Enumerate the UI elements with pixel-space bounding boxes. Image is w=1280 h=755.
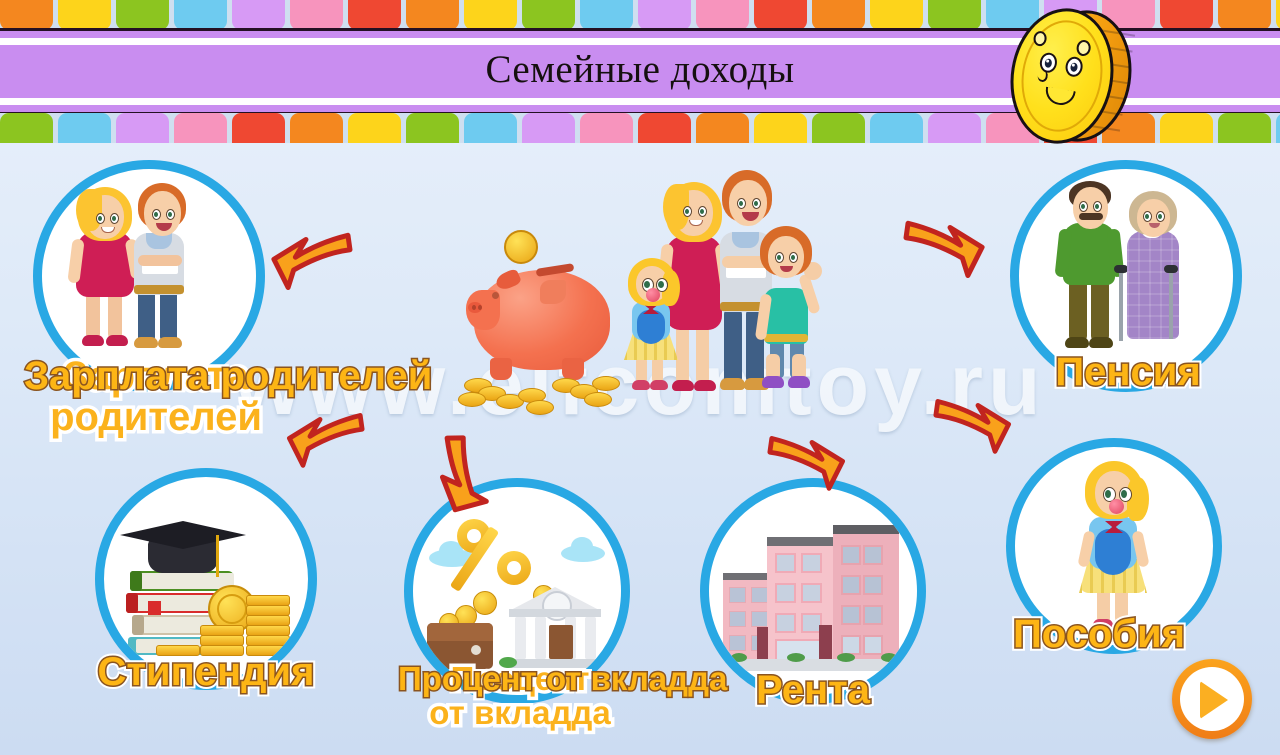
decorative-tab bbox=[0, 113, 53, 143]
smiling-coin-icon bbox=[1005, 4, 1130, 140]
decorative-tab bbox=[464, 113, 517, 143]
decorative-tab bbox=[290, 113, 343, 143]
decorative-tab bbox=[464, 0, 517, 30]
decorative-tab bbox=[870, 0, 923, 30]
decorative-tab bbox=[522, 113, 575, 143]
family-of-four-icon bbox=[614, 162, 824, 424]
decorative-tab bbox=[638, 113, 691, 143]
decorative-tab bbox=[406, 0, 459, 30]
arrow-salary-to-scholarship bbox=[278, 398, 366, 482]
decorative-tab bbox=[812, 0, 865, 30]
decorative-tab bbox=[696, 113, 749, 143]
decorative-tab bbox=[1276, 113, 1280, 143]
header-banner: Семейные доходы bbox=[0, 0, 1280, 143]
arrow-center-to-pension bbox=[902, 206, 994, 292]
decorative-tab bbox=[1218, 0, 1271, 30]
decorative-tab bbox=[290, 0, 343, 30]
decorative-tab bbox=[928, 113, 981, 143]
decorative-tab bbox=[870, 113, 923, 143]
decorative-tab bbox=[174, 0, 227, 30]
decorative-tab bbox=[522, 0, 575, 30]
decorative-tab bbox=[580, 0, 633, 30]
decorative-tab bbox=[232, 113, 285, 143]
decorative-tab bbox=[1276, 0, 1280, 30]
decorative-tab bbox=[1160, 0, 1213, 30]
decorative-tab bbox=[58, 0, 111, 30]
arrow-center-to-rent bbox=[766, 420, 854, 506]
arrow-salary-to-center bbox=[262, 218, 354, 304]
decorative-tab bbox=[754, 113, 807, 143]
play-triangle-icon bbox=[1200, 681, 1228, 719]
decorative-tab bbox=[638, 0, 691, 30]
decorative-tab bbox=[348, 0, 401, 30]
arrow-center-to-benefits bbox=[932, 384, 1020, 468]
decorative-tab bbox=[58, 113, 111, 143]
decorative-tab bbox=[928, 0, 981, 30]
decorative-tab bbox=[174, 113, 227, 143]
decorative-tab bbox=[232, 0, 285, 30]
decorative-tab bbox=[812, 113, 865, 143]
apartment-buildings-icon bbox=[709, 487, 917, 695]
decorative-tab bbox=[348, 113, 401, 143]
decorative-tab bbox=[754, 0, 807, 30]
decorative-tab bbox=[116, 0, 169, 30]
decorative-tab bbox=[406, 113, 459, 143]
decorative-tab bbox=[1218, 113, 1271, 143]
parents-couple-icon bbox=[42, 169, 256, 383]
decorative-tab bbox=[696, 0, 749, 30]
decorative-tab bbox=[0, 0, 53, 30]
play-button[interactable] bbox=[1172, 659, 1252, 739]
decorative-tab bbox=[116, 113, 169, 143]
decorative-tab bbox=[580, 113, 633, 143]
decorative-tab bbox=[1160, 113, 1213, 143]
arrow-center-to-deposit bbox=[428, 430, 502, 514]
slide-canvas: www.elfcomtoy.ru bbox=[0, 0, 1280, 755]
